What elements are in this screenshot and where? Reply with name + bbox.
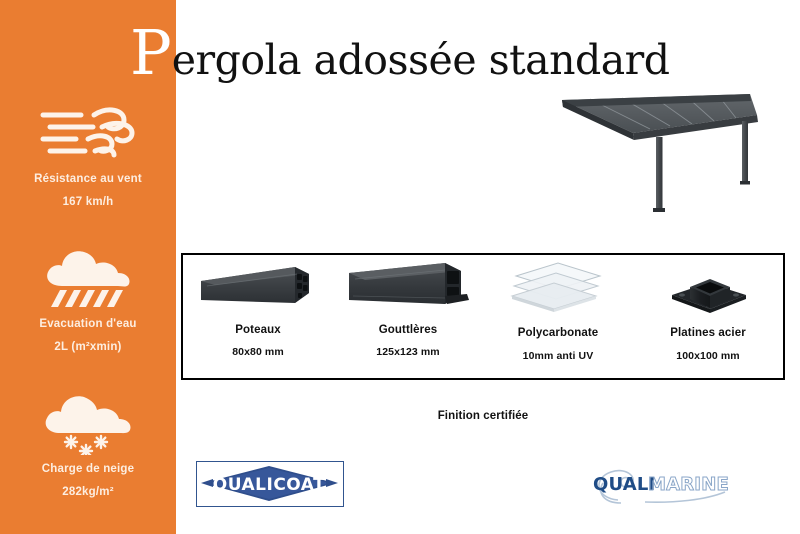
page-title-initial: P [130, 22, 171, 84]
pergola-illustration [545, 82, 795, 237]
spec-value-rain: 2L (m²xmin) [0, 341, 176, 353]
gutter-beam-profile-icon [333, 255, 483, 317]
spec-block-rain: Evacuation d'eau 2L (m²xmin) [0, 245, 176, 353]
aluminium-post-profile-icon [183, 255, 333, 317]
spec-value-snow: 282kg/m² [0, 486, 176, 498]
product-dim-gouttieres: 125x123 mm [376, 346, 439, 358]
qualicoat-logo: QUALICOAT [196, 461, 344, 507]
page-title: P ergola adossée standard [130, 22, 670, 84]
product-name-platines: Platines acier [670, 327, 746, 339]
spec-block-snow: Charge de neige 282kg/m² [0, 390, 176, 498]
spec-label-wind: Résistance au vent [0, 173, 176, 185]
product-dim-poteaux: 80x80 mm [232, 346, 284, 358]
snow-cloud-icon [0, 390, 176, 456]
product-polycarbonate: Polycarbonate 10mm anti UV [483, 255, 633, 378]
finition-certifiee-label: Finition certifiée [181, 410, 785, 422]
wind-icon [0, 100, 176, 166]
qualimarine-logo: QUALI MARINE [585, 462, 745, 508]
product-poteaux: Poteaux 80x80 mm [183, 255, 333, 378]
product-name-gouttieres: Gouttlères [379, 324, 438, 336]
qualimarine-logo-text-bold: QUALI [593, 474, 655, 495]
product-platines-acier: Platines acier 100x100 mm [633, 255, 783, 378]
spec-value-wind: 167 km/h [0, 196, 176, 208]
product-name-poteaux: Poteaux [235, 324, 280, 336]
product-dim-polycarbonate: 10mm anti UV [523, 350, 594, 362]
slide-root: Résistance au vent 167 km/h Evacuation d… [0, 0, 800, 534]
components-panel: Poteaux 80x80 mm [181, 253, 785, 380]
product-dim-platines: 100x100 mm [676, 350, 739, 362]
polycarbonate-sheets-icon [483, 255, 633, 317]
product-name-polycarbonate: Polycarbonate [518, 327, 599, 339]
spec-block-wind: Résistance au vent 167 km/h [0, 100, 176, 208]
qualimarine-logo-text-light: MARINE [648, 474, 729, 495]
steel-base-plate-icon [633, 255, 783, 317]
qualicoat-logo-text: QUALICOAT [213, 475, 325, 495]
spec-label-snow: Charge de neige [0, 463, 176, 475]
spec-label-rain: Evacuation d'eau [0, 318, 176, 330]
rain-cloud-icon [0, 245, 176, 311]
page-title-text: ergola adossée standard [172, 40, 670, 81]
product-gouttieres: Gouttlères 125x123 mm [333, 255, 483, 378]
